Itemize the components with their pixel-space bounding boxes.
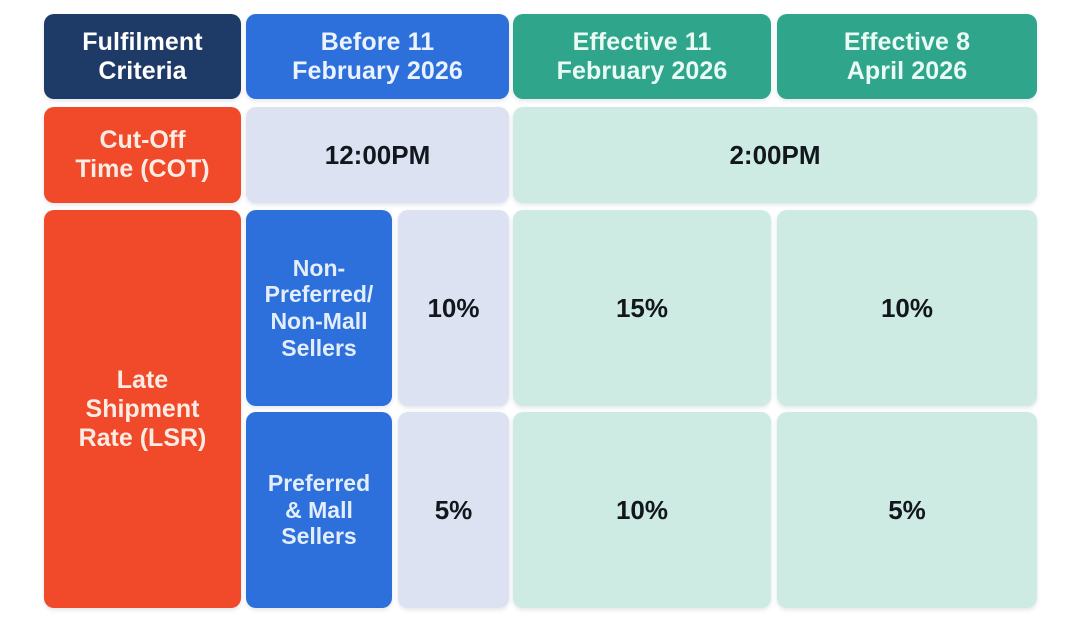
header-cell-effective-8-april-2026: Effective 8 April 2026: [777, 14, 1037, 99]
seller-label-preferred-mall: Preferred & Mall Sellers: [246, 412, 392, 608]
row-label-text-late-shipment-rate: Late Shipment Rate (LSR): [73, 366, 213, 453]
fulfilment-criteria-table: Fulfilment Criteria Before 11 February 2…: [0, 0, 1080, 630]
row-label-cut-off-time: Cut-Off Time (COT): [44, 107, 241, 203]
cell-lsr-non-preferred-before: 10%: [398, 210, 509, 406]
header-cell-before-11-february-2026: Before 11 February 2026: [246, 14, 509, 99]
header-text-effective-8-april-2026: Effective 8 April 2026: [838, 28, 976, 86]
header-cell-effective-11-february-2026: Effective 11 February 2026: [513, 14, 771, 99]
header-text-fulfilment-criteria: Fulfilment Criteria: [76, 28, 208, 86]
seller-label-non-preferred-non-mall: Non- Preferred/ Non-Mall Sellers: [246, 210, 392, 406]
cell-cot-effective-merged: 2:00PM: [513, 107, 1037, 203]
header-text-before-11-february-2026: Before 11 February 2026: [286, 28, 469, 86]
cell-cot-before: 12:00PM: [246, 107, 509, 203]
seller-label-text-preferred-mall: Preferred & Mall Sellers: [262, 470, 376, 550]
cell-lsr-preferred-effective-feb: 10%: [513, 412, 771, 608]
row-label-late-shipment-rate: Late Shipment Rate (LSR): [44, 210, 241, 608]
cell-lsr-non-preferred-effective-apr: 10%: [777, 210, 1037, 406]
seller-label-text-non-preferred-non-mall: Non- Preferred/ Non-Mall Sellers: [259, 255, 380, 362]
cell-lsr-non-preferred-effective-feb: 15%: [513, 210, 771, 406]
header-text-effective-11-february-2026: Effective 11 February 2026: [551, 28, 734, 86]
cell-lsr-preferred-before: 5%: [398, 412, 509, 608]
cell-lsr-preferred-effective-apr: 5%: [777, 412, 1037, 608]
row-label-text-cut-off-time: Cut-Off Time (COT): [69, 126, 215, 184]
header-cell-fulfilment-criteria: Fulfilment Criteria: [44, 14, 241, 99]
